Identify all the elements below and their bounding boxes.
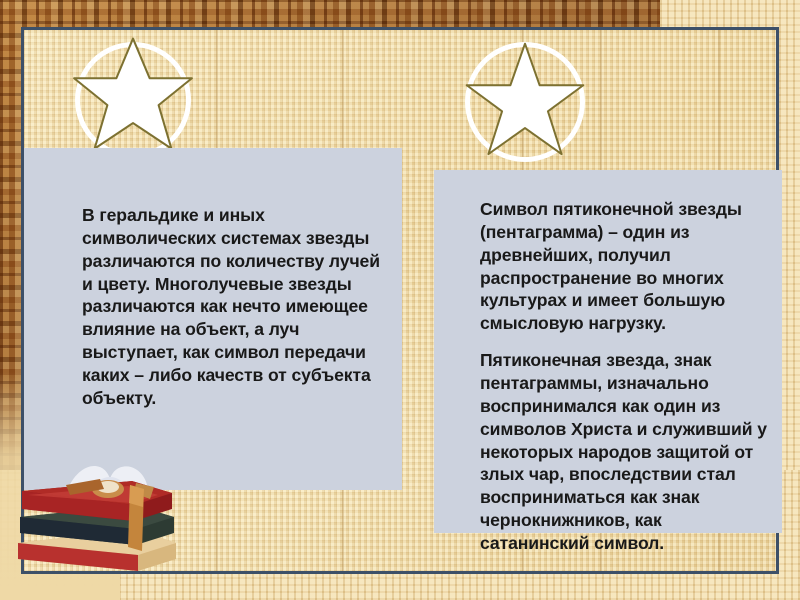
presentation-slide: В геральдике и иных символических систем…	[0, 0, 800, 600]
five-pointed-star-icon	[463, 40, 587, 164]
books-stack-image	[8, 455, 193, 580]
right-text-panel: Символ пятиконечной звезды (пентаграмма)…	[434, 170, 782, 533]
six-pointed-star-medallion	[75, 42, 191, 158]
bookmark-ribbon	[128, 485, 144, 551]
right-panel-paragraph-1: Символ пятиконечной звезды (пентаграмма)…	[480, 198, 768, 335]
six-pointed-star-icon	[69, 36, 197, 164]
left-panel-paragraph: В геральдике и иных символических систем…	[82, 204, 380, 410]
left-text-panel: В геральдике и иных символических систем…	[24, 148, 402, 490]
five-pointed-star-medallion	[465, 42, 585, 162]
right-panel-paragraph-2: Пятиконечная звезда, знак пентаграммы, и…	[480, 349, 768, 555]
